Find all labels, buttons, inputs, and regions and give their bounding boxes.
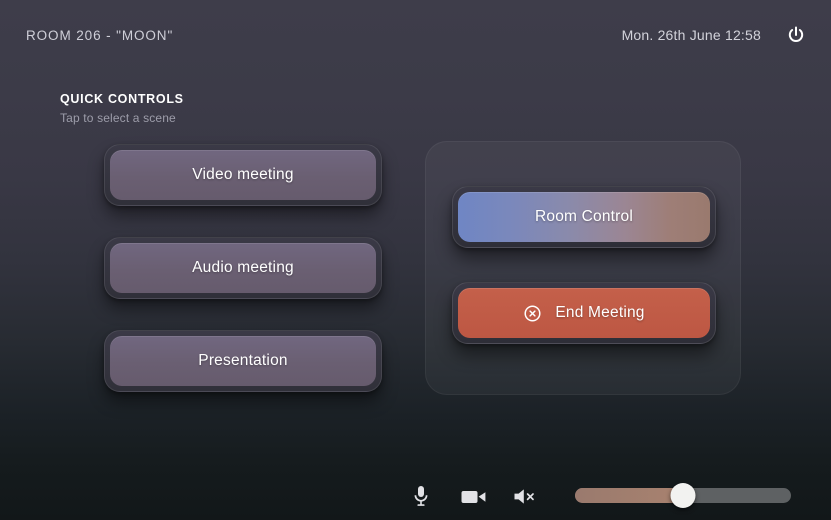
bottom-toolbar <box>0 472 831 520</box>
power-icon[interactable] <box>783 22 809 48</box>
video-camera-icon[interactable] <box>457 481 491 511</box>
end-meeting-button[interactable]: End Meeting <box>452 282 716 344</box>
scene-button-label: Audio meeting <box>110 243 376 293</box>
scene-button-audio-meeting[interactable]: Audio meeting <box>104 237 382 299</box>
scene-button-presentation[interactable]: Presentation <box>104 330 382 392</box>
section-title: QUICK CONTROLS <box>60 92 184 106</box>
actions-panel: Room Control End Meeting <box>425 141 741 395</box>
microphone-icon[interactable] <box>404 481 438 511</box>
room-title: ROOM 206 - "MOON" <box>26 28 173 43</box>
end-meeting-label: End Meeting <box>555 304 644 322</box>
room-control-label: Room Control <box>458 192 710 242</box>
scene-button-list: Video meeting Audio meeting Presentation <box>104 144 382 423</box>
clock: Mon. 26th June 12:58 <box>622 27 761 43</box>
section-subtitle: Tap to select a scene <box>60 111 184 125</box>
circle-x-icon <box>523 304 542 323</box>
volume-slider-knob[interactable] <box>671 483 696 508</box>
scene-button-video-meeting[interactable]: Video meeting <box>104 144 382 206</box>
volume-slider[interactable] <box>575 488 791 503</box>
end-meeting-button-inner: End Meeting <box>458 288 710 338</box>
room-control-button[interactable]: Room Control <box>452 186 716 248</box>
header-right-group: Mon. 26th June 12:58 <box>622 22 809 48</box>
scene-button-label: Video meeting <box>110 150 376 200</box>
scene-button-label: Presentation <box>110 336 376 386</box>
volume-slider-fill <box>575 488 683 503</box>
quick-controls-heading: QUICK CONTROLS Tap to select a scene <box>60 92 184 125</box>
speaker-mute-icon[interactable] <box>509 481 543 511</box>
header: ROOM 206 - "MOON" Mon. 26th June 12:58 <box>0 0 831 70</box>
